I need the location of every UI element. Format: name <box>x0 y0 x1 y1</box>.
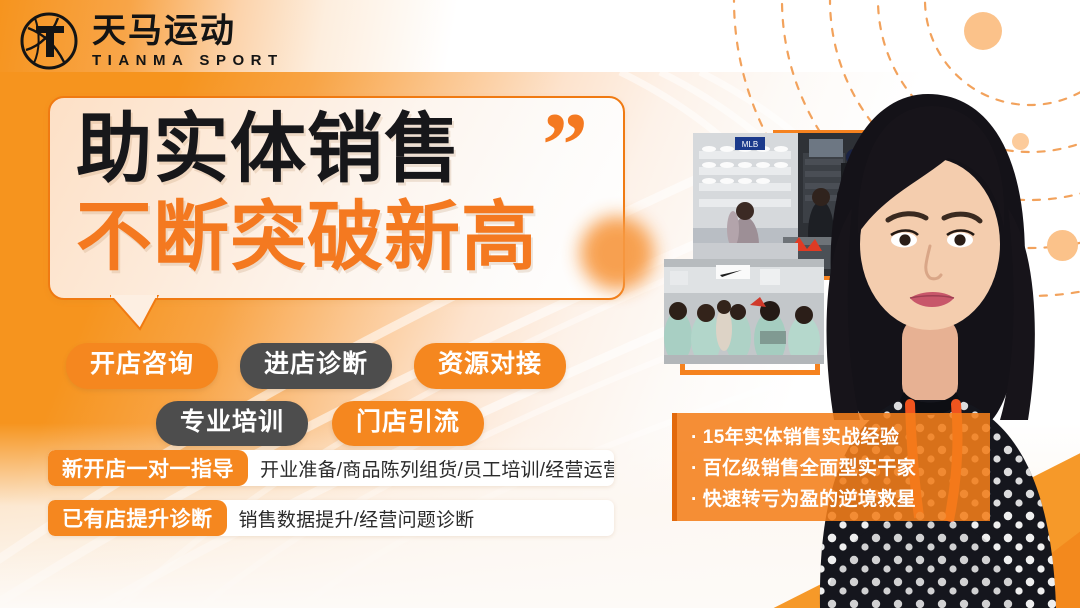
credential-item-1: 15年实体销售实战经验 <box>691 423 990 454</box>
pill-zhuanye-peixun[interactable]: 专业培训 <box>156 401 308 447</box>
promo-banner: 天马运动 TIANMA SPORT 助实体销售 不断突破新高 ” 开店咨询 进店… <box>0 0 1080 608</box>
credential-item-2: 百亿级销售全面型实干家 <box>691 454 990 485</box>
credential-item-3: 快速转亏为盈的逆境救星 <box>691 485 990 516</box>
service-pill-group: 开店咨询 进店诊断 资源对接 专业培训 门店引流 <box>66 343 626 458</box>
quote-glow-blob <box>580 216 654 290</box>
brand-name-cn: 天马运动 <box>92 14 284 48</box>
service-row-new-store-body: 开业准备/商品陈列组货/员工培训/经营运营 <box>248 450 614 486</box>
headline-text-group: 助实体销售 不断突破新高 <box>76 112 606 276</box>
accent-dot-large <box>964 12 1002 50</box>
service-pill-row-2: 专业培训 门店引流 <box>66 401 626 447</box>
service-row-existing-store[interactable]: 已有店提升诊断 销售数据提升/经营问题诊断 <box>48 500 614 536</box>
svg-text:MLB: MLB <box>742 140 758 149</box>
quote-mark-icon: ” <box>542 112 588 178</box>
basketball-t-logo-icon <box>18 10 80 72</box>
service-row-new-store-label: 新开店一对一指导 <box>48 450 248 486</box>
pill-mendian-yinliu[interactable]: 门店引流 <box>332 401 484 447</box>
pill-jindian-zhenduan[interactable]: 进店诊断 <box>240 343 392 389</box>
credentials-panel: 15年实体销售实战经验 百亿级销售全面型实干家 快速转亏为盈的逆境救星 <box>672 413 990 521</box>
service-detail-list: 新开店一对一指导 开业准备/商品陈列组货/员工培训/经营运营 已有店提升诊断 销… <box>48 450 614 550</box>
pill-kaidian-zixun[interactable]: 开店咨询 <box>66 343 218 389</box>
service-row-existing-store-label: 已有店提升诊断 <box>48 500 227 536</box>
pill-ziyuan-duijie[interactable]: 资源对接 <box>414 343 566 389</box>
brand-logo: 天马运动 TIANMA SPORT <box>18 10 284 72</box>
headline-bubble: 助实体销售 不断突破新高 ” <box>48 96 625 300</box>
headline-line-1: 助实体销售 <box>76 112 606 188</box>
service-row-new-store[interactable]: 新开店一对一指导 开业准备/商品陈列组货/员工培训/经营运营 <box>48 450 614 486</box>
service-row-existing-store-body: 销售数据提升/经营问题诊断 <box>227 500 615 536</box>
consultant-portrait <box>760 48 1080 608</box>
brand-name-en: TIANMA SPORT <box>92 53 284 68</box>
headline-line-2: 不断突破新高 <box>76 200 606 276</box>
service-pill-row-1: 开店咨询 进店诊断 资源对接 <box>66 343 626 389</box>
